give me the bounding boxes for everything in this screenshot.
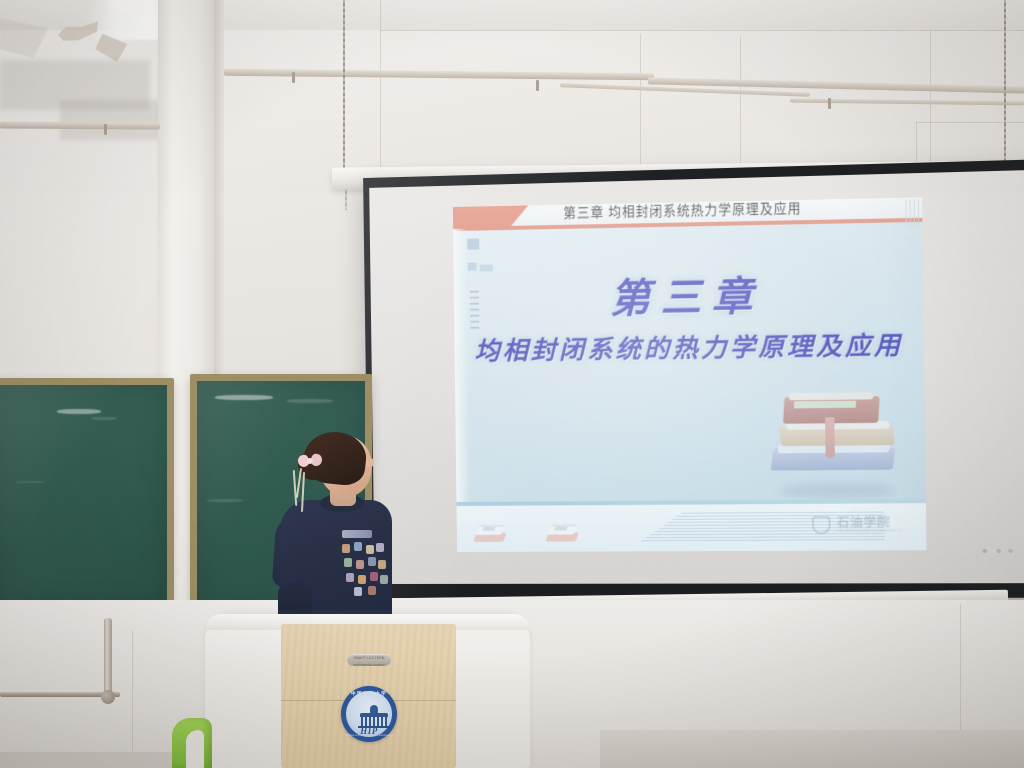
wall-seam — [380, 0, 381, 176]
wall-seam — [930, 30, 931, 162]
cable-conduit — [0, 121, 160, 129]
chalkboard-left — [0, 378, 174, 616]
university-emblem: 中国石油大学 China University of Petroleum HIP — [341, 686, 397, 742]
classroom-scene: 第三章 均相封闭系统热力学原理及应用 第三章 均相封闭系统的热力学原理及应用 — [0, 0, 1024, 768]
logo-mark-icon — [812, 516, 831, 534]
hanging-chain — [1004, 0, 1006, 166]
conduit-clip — [104, 124, 107, 135]
ribbon-strand — [296, 468, 302, 498]
shirt-graphic-tag — [342, 530, 372, 538]
university-watermark-logo: 石油学院 PETROLEUM UNIVERSITY — [812, 511, 908, 540]
decoration-square — [467, 239, 479, 250]
presenter — [268, 432, 398, 628]
wall-seam — [916, 122, 917, 164]
floor-strip — [0, 752, 200, 768]
wall-seam — [380, 30, 1024, 31]
podium-plate-line1: SMART LECTERN — [347, 654, 391, 661]
podium-name-plate: SMART LECTERN multimedia control — [347, 654, 391, 666]
hanging-chain — [343, 0, 345, 176]
wall-seam — [916, 122, 1024, 123]
slide-chapter-title: 第三章 — [454, 261, 924, 327]
open-book-icon — [547, 521, 577, 541]
pipe-elbow — [101, 690, 115, 704]
wall-pipe — [104, 618, 112, 700]
conduit-clip — [536, 80, 539, 91]
open-book-icon — [475, 522, 505, 542]
stacked-books-illustration — [761, 384, 907, 508]
conduit-clip — [828, 98, 831, 109]
wall-scuff — [60, 100, 170, 140]
screen-dust-specks — [981, 548, 1013, 554]
bookmark-ribbon — [825, 417, 835, 458]
logo-name-en: PETROLEUM UNIVERSITY — [837, 528, 904, 533]
podium-plate-line2: multimedia control — [347, 661, 391, 668]
book-top-label — [794, 401, 856, 409]
emblem-inner-disc: HIP — [346, 691, 392, 737]
chair-backrest-gap — [186, 730, 204, 768]
wall-seam — [132, 630, 133, 768]
conduit-clip — [292, 72, 295, 83]
slide-footer: 石油学院 PETROLEUM UNIVERSITY — [457, 503, 927, 552]
emblem-abbreviation: HIP — [346, 726, 392, 736]
book-top-pages — [789, 392, 874, 400]
slide-subtitle: 均相封闭系统的热力学原理及应用 — [454, 325, 924, 368]
floor-strip — [600, 730, 1024, 768]
wall-seam — [740, 36, 741, 176]
projected-slide[interactable]: 第三章 均相封闭系统热力学原理及应用 第三章 均相封闭系统的热力学原理及应用 — [453, 197, 927, 552]
wall-seam — [640, 34, 641, 176]
lectern-podium[interactable]: SMART LECTERN multimedia control 中国石油大学 … — [205, 614, 530, 768]
books-shadow — [778, 482, 894, 499]
shirt-graphic-print — [340, 530, 386, 596]
pink-bow-icon — [298, 454, 322, 469]
emblem-dome-icon — [370, 705, 378, 713]
